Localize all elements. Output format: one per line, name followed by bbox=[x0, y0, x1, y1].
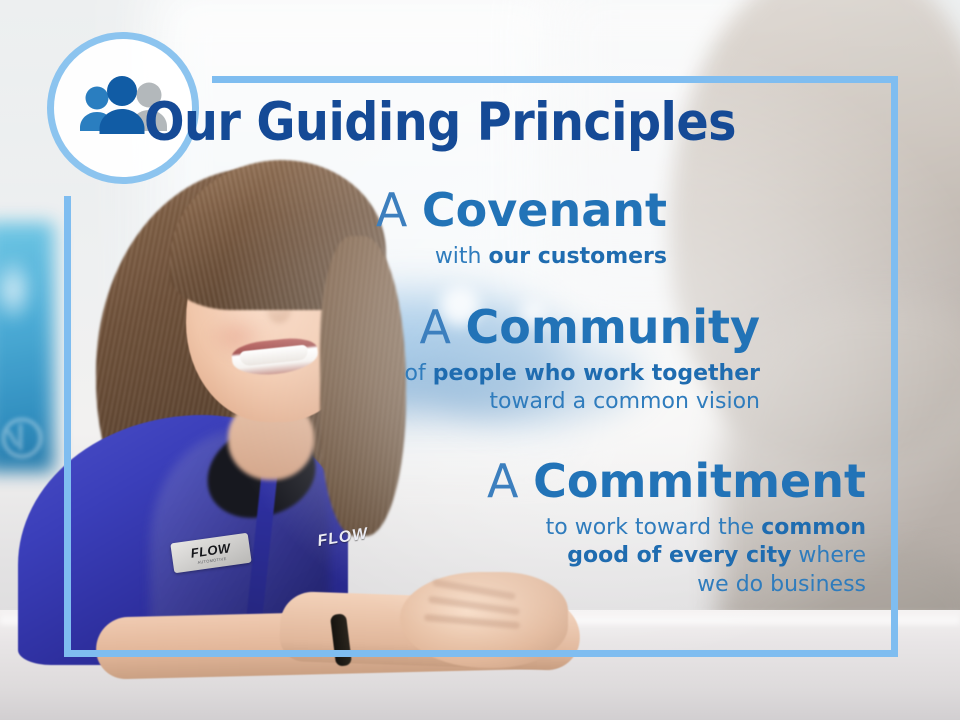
blurred-vehicle-secondary bbox=[430, 330, 640, 420]
guiding-principles-graphic: FLOW AUTOMOTIVE FLOW bbox=[0, 0, 960, 720]
people-group-icon bbox=[75, 73, 171, 143]
employee-hair-side bbox=[320, 236, 406, 536]
people-badge bbox=[47, 32, 199, 184]
bokeh-light bbox=[440, 286, 480, 326]
display-screen-glare bbox=[0, 255, 36, 325]
bokeh-light bbox=[520, 300, 546, 326]
vehicle-brand-logo-icon bbox=[2, 418, 42, 458]
